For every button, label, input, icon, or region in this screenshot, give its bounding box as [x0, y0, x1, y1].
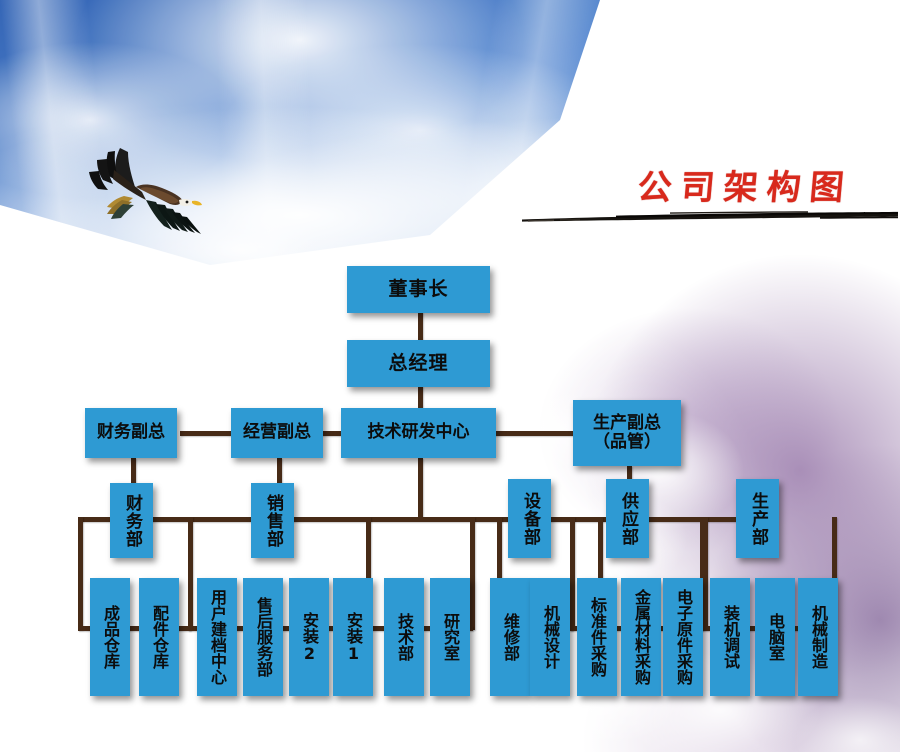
node-research-lab[interactable]: 研究室: [430, 578, 470, 696]
node-after-sales-service-label: 售后服务部: [254, 597, 272, 677]
node-maintenance-dept-label: 维修部: [501, 613, 519, 661]
node-user-filing-center[interactable]: 用户建档中心: [197, 578, 237, 696]
connector-drop-finance-left: [78, 517, 83, 630]
node-dept-equipment-label: 设备部: [520, 492, 539, 546]
node-install-2-label: 安装2: [300, 612, 318, 663]
node-procurement-electronic-components-label: 电子原件采购: [674, 589, 692, 685]
node-mechanical-manufacturing[interactable]: 机械制造: [798, 578, 838, 696]
node-install-1-label: 安装1: [344, 612, 362, 663]
node-warehouse-finished[interactable]: 成品仓库: [90, 578, 130, 696]
node-vp-operations[interactable]: 经营副总: [231, 408, 323, 458]
connector-chairman-gm: [418, 312, 423, 342]
node-tech-dept-label: 技术部: [395, 613, 413, 661]
node-research-lab-label: 研究室: [441, 613, 459, 661]
node-procurement-electronic-components[interactable]: 电子原件采购: [663, 578, 703, 696]
connector-production-dept-bus: [529, 517, 769, 522]
node-procurement-standard-parts[interactable]: 标准件采购: [577, 578, 617, 696]
org-chart-poster: 公司架构图: [0, 0, 900, 752]
node-vp-production-label: 生产副总 （品管）: [593, 414, 661, 452]
node-mechanical-design-label: 机械设计: [541, 605, 559, 669]
node-procurement-metal-materials[interactable]: 金属材料采购: [621, 578, 661, 696]
node-assembly-testing-label: 装机调试: [721, 605, 739, 669]
node-dept-equipment[interactable]: 设备部: [508, 479, 551, 558]
node-dept-finance[interactable]: 财务部: [110, 483, 153, 558]
node-computer-room-label: 电脑室: [766, 613, 784, 661]
node-user-filing-center-label: 用户建档中心: [208, 589, 226, 685]
connector-drop-rd-right: [470, 517, 475, 630]
node-chairman[interactable]: 董事长: [347, 266, 490, 313]
node-general-manager[interactable]: 总经理: [347, 340, 490, 387]
connector-rd-down: [418, 458, 423, 520]
node-vp-operations-label: 经营副总: [243, 423, 311, 442]
connector-drop-equipment-right: [570, 517, 575, 630]
connector-drop-finance-right: [188, 517, 193, 630]
node-procurement-standard-parts-label: 标准件采购: [588, 597, 606, 677]
node-dept-finance-label: 财务部: [122, 494, 141, 548]
node-dept-supply-label: 供应部: [618, 492, 637, 546]
node-general-manager-label: 总经理: [388, 353, 448, 374]
node-dept-sales-label: 销售部: [263, 494, 282, 548]
node-vp-production[interactable]: 生产副总 （品管）: [573, 400, 681, 466]
node-warehouse-finished-label: 成品仓库: [101, 605, 119, 669]
node-assembly-testing[interactable]: 装机调试: [710, 578, 750, 696]
node-dept-supply[interactable]: 供应部: [606, 479, 649, 558]
node-warehouse-parts-label: 配件仓库: [150, 605, 168, 669]
connector-drop-production-left: [703, 517, 708, 630]
node-chairman-label: 董事长: [388, 279, 448, 300]
org-chart: 董事长 总经理 财务副总 经营副总 技术研发中心 生产副总 （品管） 财务部 销…: [0, 0, 900, 752]
node-after-sales-service[interactable]: 售后服务部: [243, 578, 283, 696]
node-dept-sales[interactable]: 销售部: [251, 483, 294, 558]
node-vp-finance-label: 财务副总: [97, 423, 165, 442]
node-install-1[interactable]: 安装1: [333, 578, 373, 696]
node-vp-finance[interactable]: 财务副总: [85, 408, 177, 458]
node-dept-production-label: 生产部: [748, 492, 767, 546]
node-dept-production[interactable]: 生产部: [736, 479, 779, 558]
node-mechanical-manufacturing-label: 机械制造: [809, 605, 827, 669]
node-procurement-metal-materials-label: 金属材料采购: [632, 589, 650, 685]
node-install-2[interactable]: 安装2: [289, 578, 329, 696]
node-maintenance-dept[interactable]: 维修部: [490, 578, 530, 696]
node-rd-center[interactable]: 技术研发中心: [341, 408, 496, 458]
node-computer-room[interactable]: 电脑室: [755, 578, 795, 696]
node-warehouse-parts[interactable]: 配件仓库: [139, 578, 179, 696]
node-mechanical-design[interactable]: 机械设计: [530, 578, 570, 696]
node-rd-center-label: 技术研发中心: [368, 423, 470, 442]
node-tech-dept[interactable]: 技术部: [384, 578, 424, 696]
